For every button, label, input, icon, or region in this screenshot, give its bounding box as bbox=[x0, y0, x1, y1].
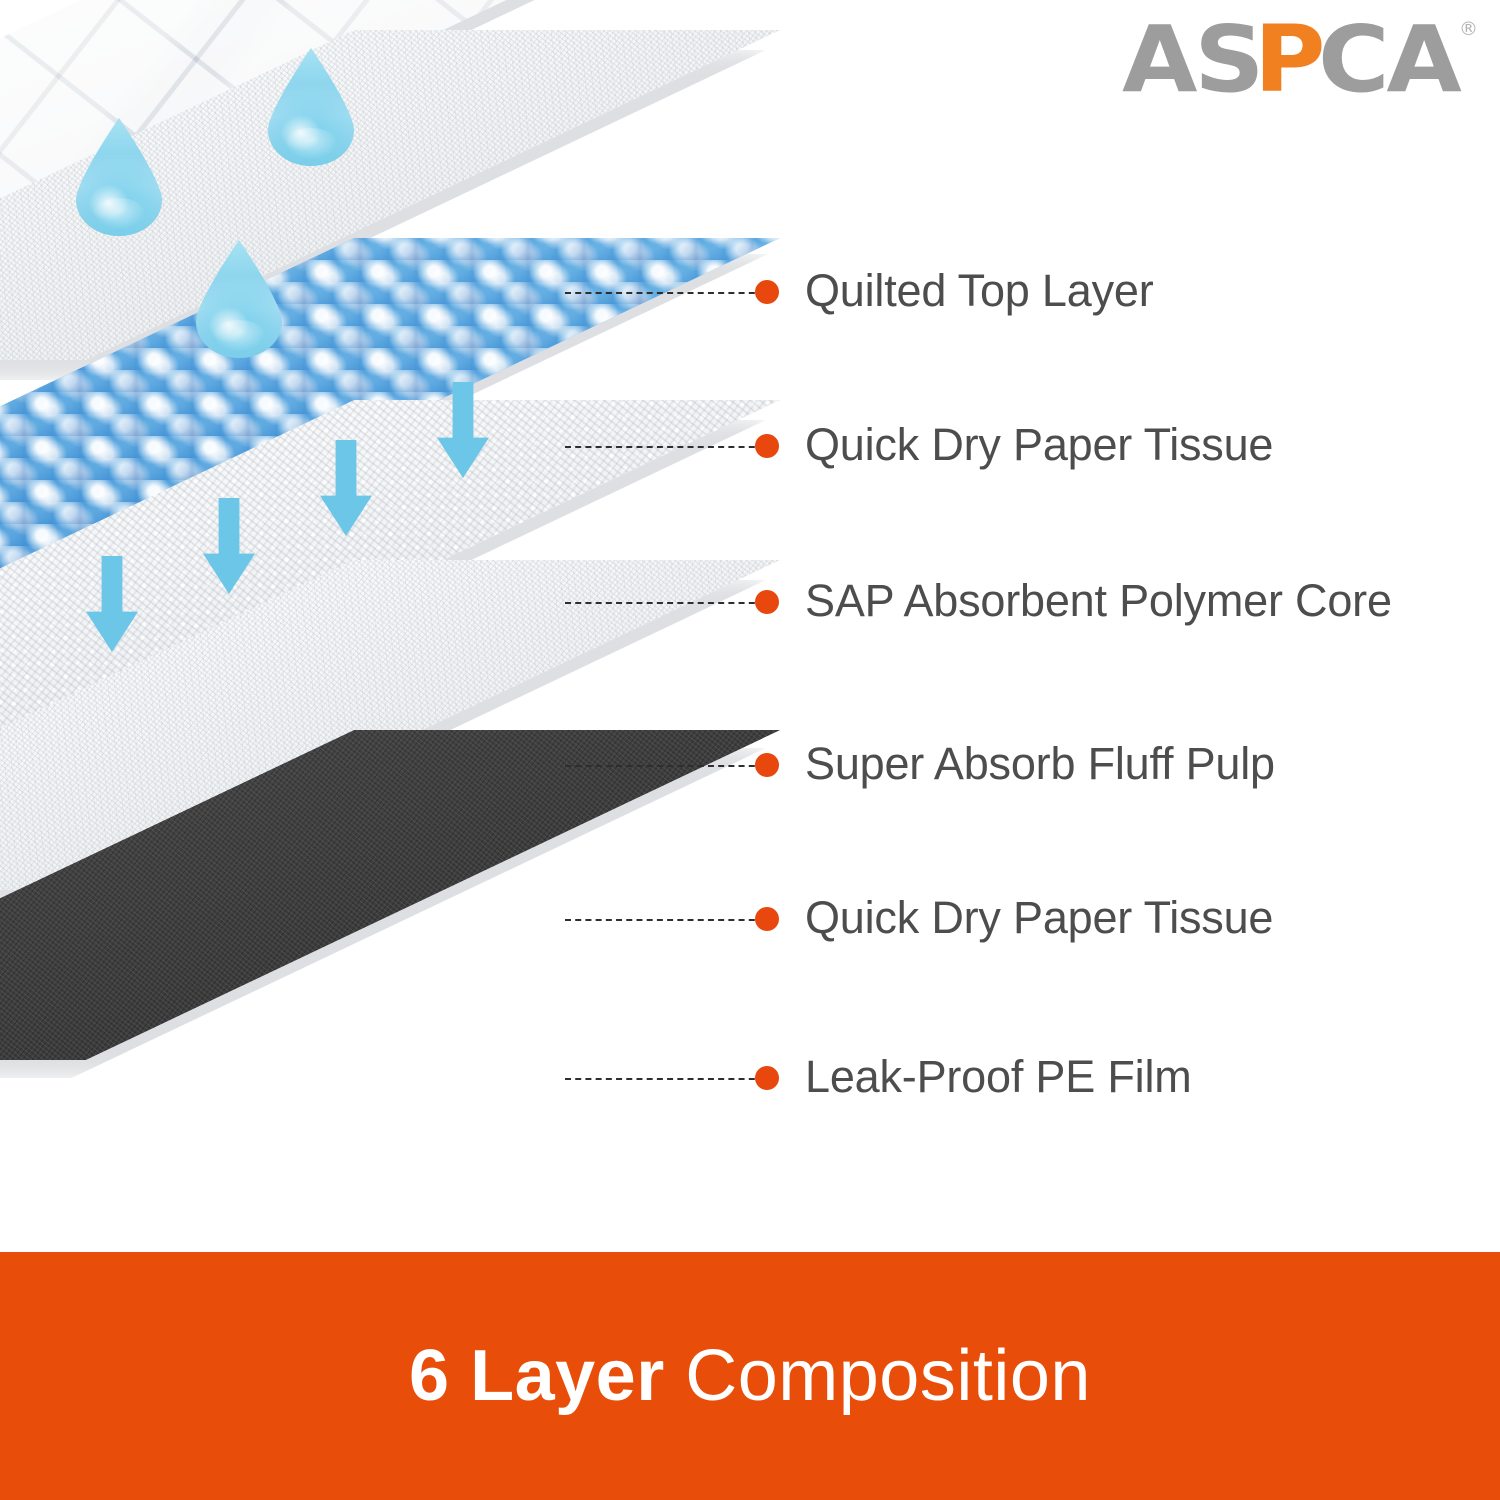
logo-text-as: AS bbox=[1122, 14, 1261, 106]
callout-bullet bbox=[755, 434, 779, 458]
banner-title-regular: Composition bbox=[685, 1336, 1091, 1416]
leader-line bbox=[565, 602, 765, 604]
registered-trademark-icon: ® bbox=[1459, 20, 1478, 39]
banner-title-bold: 6 Layer bbox=[409, 1336, 665, 1416]
leader-line bbox=[565, 446, 765, 448]
logo-text-ca: CA bbox=[1318, 14, 1459, 106]
leak-proof-pe-film-sheet bbox=[0, 730, 780, 1060]
callout-bullet bbox=[755, 907, 779, 931]
callout-bullet bbox=[755, 753, 779, 777]
leader-line bbox=[565, 1078, 765, 1080]
composition-banner: 6 Layer Composition bbox=[0, 1252, 1500, 1500]
callout-label: Super Absorb Fluff Pulp bbox=[805, 738, 1275, 790]
callout-label: Leak-Proof PE Film bbox=[805, 1051, 1192, 1103]
callout-label: Quilted Top Layer bbox=[805, 265, 1154, 317]
banner-title: 6 Layer Composition bbox=[409, 1335, 1091, 1417]
aspca-logo: AS P CA ® bbox=[1122, 14, 1478, 106]
callout-bullet bbox=[755, 1066, 779, 1090]
logo-text-p: P bbox=[1254, 14, 1322, 106]
leader-line bbox=[565, 292, 765, 294]
callout-label: SAP Absorbent Polymer Core bbox=[805, 575, 1392, 627]
callout-label: Quick Dry Paper Tissue bbox=[805, 419, 1273, 471]
product-layer-composition-infographic: AS P CA ® Quilted Top Layer Quick Dry Pa… bbox=[0, 0, 1500, 1500]
callout-bullet bbox=[755, 280, 779, 304]
callout-label: Quick Dry Paper Tissue bbox=[805, 892, 1273, 944]
pe-film-surface bbox=[0, 730, 780, 1060]
callout-bullet bbox=[755, 590, 779, 614]
leader-line bbox=[565, 765, 765, 767]
leader-line bbox=[565, 919, 765, 921]
